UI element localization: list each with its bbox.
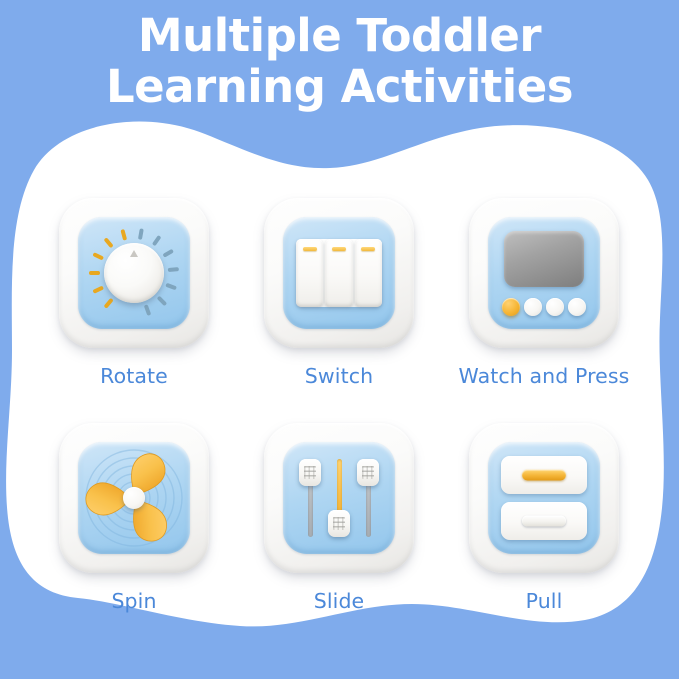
- rocker-switch-3[interactable]: [355, 239, 382, 307]
- press-button-4[interactable]: [568, 298, 586, 316]
- activity-tile[interactable]: [469, 423, 619, 573]
- rocker-switch-1[interactable]: [296, 239, 323, 307]
- button-row: [502, 297, 586, 317]
- activity-grid: Rotate Switch: [0, 118, 679, 630]
- switch-indicator-icon: [361, 247, 375, 251]
- activity-tile[interactable]: [59, 198, 209, 348]
- activity-item-rotate[interactable]: Rotate: [34, 198, 234, 388]
- activity-label: Switch: [239, 364, 439, 388]
- vertical-slider-3[interactable]: [363, 459, 373, 537]
- press-button-3[interactable]: [546, 298, 564, 316]
- press-button-2[interactable]: [524, 298, 542, 316]
- rocker-switch-icon[interactable]: [296, 239, 382, 307]
- tile-inner-panel: [78, 442, 190, 554]
- activity-item-switch[interactable]: Switch: [239, 198, 439, 388]
- vertical-slider-1[interactable]: [305, 459, 315, 537]
- activity-label: Slide: [239, 589, 439, 613]
- poster-stage: Multiple Toddler Learning Activities: [0, 0, 679, 679]
- activity-label: Spin: [34, 589, 234, 613]
- slider-knob[interactable]: [357, 459, 379, 486]
- switch-indicator-icon: [332, 247, 346, 251]
- activity-tile[interactable]: [264, 423, 414, 573]
- tile-inner-panel: [283, 442, 395, 554]
- slider-knob[interactable]: [299, 459, 321, 486]
- tile-inner-panel: [78, 217, 190, 329]
- rocker-switch-2[interactable]: [325, 239, 352, 307]
- activity-tile[interactable]: [264, 198, 414, 348]
- tile-inner-panel: [488, 217, 600, 329]
- activity-item-spin[interactable]: Spin: [34, 423, 234, 613]
- vertical-slider-2[interactable]: [334, 459, 344, 537]
- activity-item-watch-and-press[interactable]: Watch and Press: [444, 198, 644, 388]
- activity-label: Rotate: [34, 364, 234, 388]
- slider-knob[interactable]: [328, 510, 350, 537]
- drawer-top[interactable]: [501, 456, 587, 494]
- activity-tile[interactable]: [59, 423, 209, 573]
- switch-indicator-icon: [303, 247, 317, 251]
- activity-label: Watch and Press: [444, 364, 644, 388]
- knob-dial[interactable]: [104, 243, 164, 303]
- activity-item-slide[interactable]: Slide: [239, 423, 439, 613]
- knob-pointer-icon: [130, 250, 138, 257]
- drawer-handle-bottom[interactable]: [522, 516, 566, 527]
- activity-label: Pull: [444, 589, 644, 613]
- tile-inner-panel: [283, 217, 395, 329]
- activity-item-pull[interactable]: Pull: [444, 423, 644, 613]
- drawer-handle-top[interactable]: [522, 470, 566, 481]
- screen-buttons-icon: [504, 231, 584, 287]
- drawer-bottom[interactable]: [501, 502, 587, 540]
- press-button-1[interactable]: [502, 298, 520, 316]
- page-title: Multiple Toddler Learning Activities: [0, 10, 679, 112]
- activity-tile[interactable]: [469, 198, 619, 348]
- tile-inner-panel: [488, 442, 600, 554]
- fan-hub: [123, 487, 145, 509]
